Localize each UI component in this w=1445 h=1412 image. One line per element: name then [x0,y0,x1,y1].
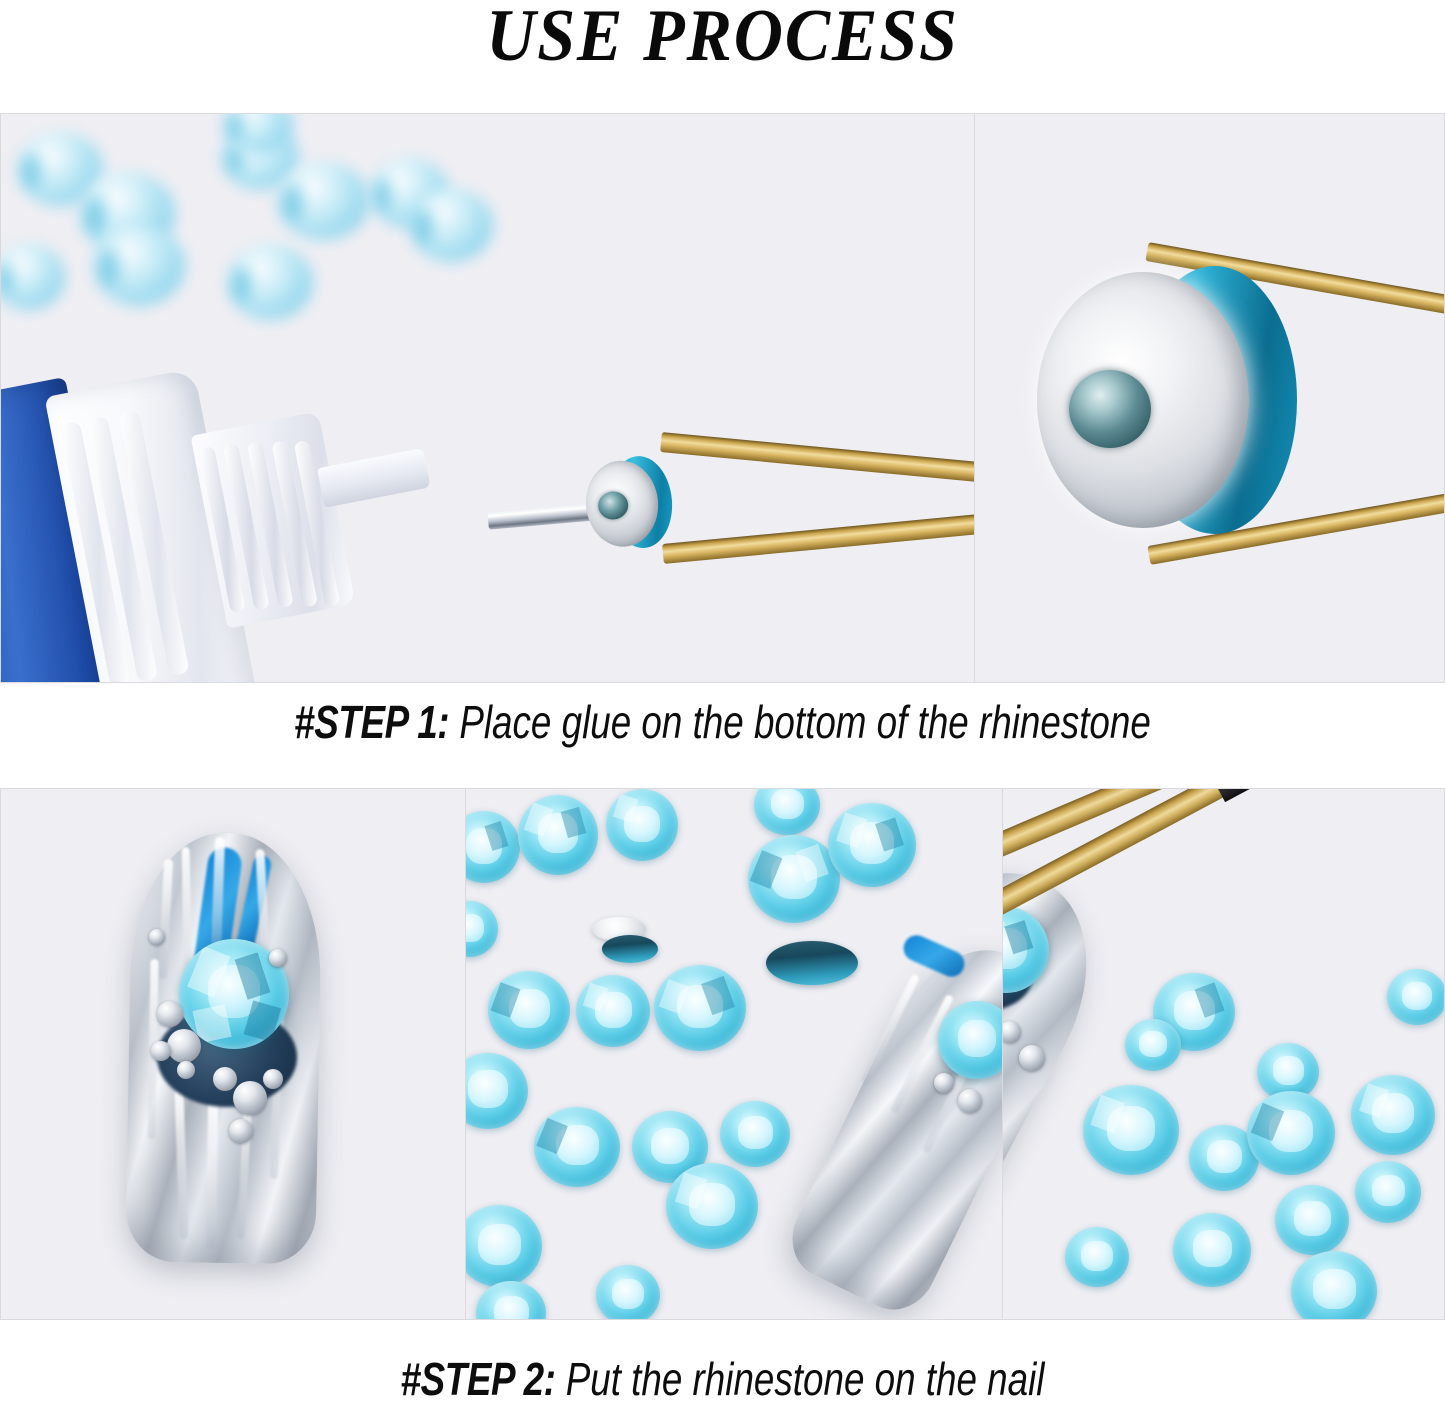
tweezer-black-handle [1209,788,1436,802]
rhinestone [465,901,498,957]
rhinestone [720,1101,790,1167]
rhinestone-table-facet [1313,1269,1356,1309]
rhinestone [1387,969,1445,1025]
rhinestone [1291,1251,1377,1320]
rhinestone-table-facet [465,914,484,942]
background-rhinestone [93,224,185,306]
step-2-caption: #STEP 2: Put the rhinestone on the nail [145,1352,1301,1406]
page-title: USE PROCESS [58,0,1387,79]
rhinestone [1351,1075,1435,1155]
rhinestone-closeup-photo [974,113,1445,683]
rhinestone-table-facet [1294,1201,1331,1236]
nail-bead [151,1041,171,1061]
rhinestone-table-facet [468,1070,508,1108]
rhinestone-table-facet [478,1224,521,1265]
rhinestone [1173,1213,1251,1287]
nail-bead [167,1029,201,1063]
rhinestone-table-facet [1207,1140,1242,1173]
rhinestone [596,1265,660,1320]
rhinestone [1065,1227,1129,1287]
nail-bead [229,1119,253,1143]
rhinestone [1247,1091,1335,1175]
step-2-text: Put the rhinestone on the nail [555,1353,1044,1405]
nail-bead [157,1001,183,1027]
background-rhinestone [0,244,65,310]
rhinestone-macro [1037,266,1297,534]
nail-bead [213,1067,237,1091]
step-1-caption: #STEP 1: Place glue on the bottom of the… [145,695,1301,749]
rhinestone-table-facet [1081,1241,1113,1271]
rhinestone-table-facet [494,1296,529,1320]
rhinestone-table-facet [1402,982,1432,1010]
rhinestone [1355,1161,1421,1223]
background-rhinestone [277,162,369,240]
rhinestone [518,795,598,875]
rhinestone-table-facet [651,1128,689,1164]
step-2-label: #STEP 2: [401,1353,556,1405]
nail-bead [149,929,165,945]
rhinestone-table-facet [612,1279,644,1309]
step-1-text: Place glue on the bottom of the rhinesto… [449,696,1151,748]
rhinestone [828,803,916,887]
rhinestone [1125,1019,1181,1071]
rhinestone-table-facet [1193,1230,1232,1267]
nail-bead [934,1073,954,1093]
step-1-label: #STEP 1: [294,696,449,748]
rhinestone [666,1163,758,1249]
nail-bead [1019,1045,1045,1071]
rhinestone-table-facet [771,789,804,819]
glue-tube [0,296,486,683]
step-1-image-row [0,113,1445,683]
rhinestone [534,1107,620,1187]
rhinestone [465,1053,528,1129]
tweezer-arm-upper [660,432,974,527]
flipped-rhinestone-edge [602,935,658,963]
use-process-infographic: USE PROCESS [0,0,1445,1412]
nail-bead [177,1061,195,1079]
tweezer-arm-lower [662,469,974,564]
rhinestone-table-facet [1139,1031,1167,1057]
rhinestone [606,789,678,861]
tube-tip [317,448,431,508]
rhinestone [654,965,746,1051]
rhinestone [488,971,570,1049]
tilted-rhinestone-edge [766,941,858,985]
nail-bead [958,1089,982,1113]
rhinestone [754,788,820,835]
rhinestone-table-facet [738,1116,773,1149]
scattered-rhinestones-photo [465,788,1002,1320]
nail-bead [269,949,287,967]
rhinestone [476,1281,546,1320]
finished-nail-photo [0,788,465,1320]
glue-drop [1069,370,1151,448]
nail-bead [233,1081,267,1115]
tweezer-placement-photo [1002,788,1445,1320]
gem-table-facet [958,1020,995,1057]
rhinestone [1275,1185,1349,1255]
glue-needle-tip [487,503,596,529]
background-rhinestone [409,188,493,262]
step-2-image-row [0,788,1445,1320]
rhinestone [748,835,840,923]
glue-application-photo [0,113,974,683]
rhinestone-table-facet [1273,1056,1304,1085]
rhinestone [576,975,650,1047]
rhinestone-in-tweezers [582,453,678,552]
nail-bead [263,1069,283,1089]
background-rhinestone [227,244,313,320]
rhinestone [465,811,520,883]
rhinestone-table-facet [1372,1175,1405,1206]
rhinestone [465,1205,542,1287]
rhinestone [1083,1085,1179,1175]
